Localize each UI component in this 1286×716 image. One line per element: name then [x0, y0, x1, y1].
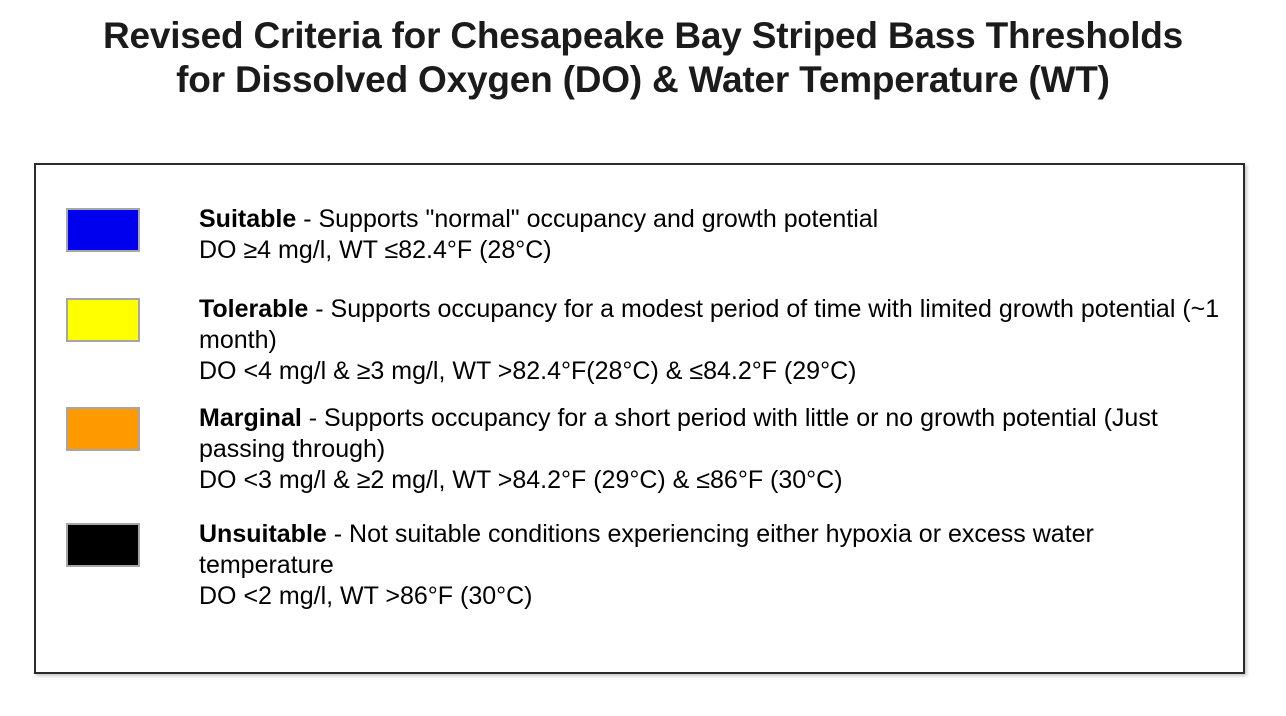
legend-item-criteria: DO ≥4 mg/l, WT ≤82.4°F (28°C): [199, 235, 1233, 266]
color-swatch-unsuitable: [66, 523, 140, 567]
legend-item-name: Marginal: [199, 404, 302, 432]
color-swatch-tolerable: [66, 298, 140, 342]
legend-item-criteria: DO <3 mg/l & ≥2 mg/l, WT >84.2°F (29°C) …: [199, 465, 1233, 496]
legend-item-description: - Not suitable conditions experiencing e…: [199, 520, 1094, 579]
legend-item-text: Tolerable - Supports occupancy for a mod…: [199, 294, 1233, 387]
legend-item-description: - Supports occupancy for a short period …: [199, 404, 1158, 463]
list-item: Unsuitable - Not suitable conditions exp…: [66, 519, 1233, 612]
legend-item-text: Suitable - Supports "normal" occupancy a…: [199, 204, 1233, 266]
color-swatch-suitable: [66, 208, 140, 252]
legend-item-name: Unsuitable: [199, 520, 327, 548]
legend-item-description: - Supports occupancy for a modest period…: [199, 295, 1219, 354]
legend-panel: Suitable - Supports "normal" occupancy a…: [34, 163, 1245, 674]
color-swatch-marginal: [66, 407, 140, 451]
legend-item-name: Tolerable: [199, 295, 308, 323]
page-title: Revised Criteria for Chesapeake Bay Stri…: [0, 14, 1286, 102]
list-item: Suitable - Supports "normal" occupancy a…: [66, 204, 1233, 266]
legend-list: Suitable - Supports "normal" occupancy a…: [36, 165, 1243, 672]
legend-item-name: Suitable: [199, 205, 296, 233]
list-item: Marginal - Supports occupancy for a shor…: [66, 403, 1233, 496]
legend-item-text: Unsuitable - Not suitable conditions exp…: [199, 519, 1233, 612]
legend-item-description: - Supports "normal" occupancy and growth…: [296, 205, 878, 233]
legend-item-text: Marginal - Supports occupancy for a shor…: [199, 403, 1233, 496]
legend-item-criteria: DO <4 mg/l & ≥3 mg/l, WT >82.4°F(28°C) &…: [199, 356, 1233, 387]
list-item: Tolerable - Supports occupancy for a mod…: [66, 294, 1233, 387]
legend-item-criteria: DO <2 mg/l, WT >86°F (30°C): [199, 581, 1233, 612]
